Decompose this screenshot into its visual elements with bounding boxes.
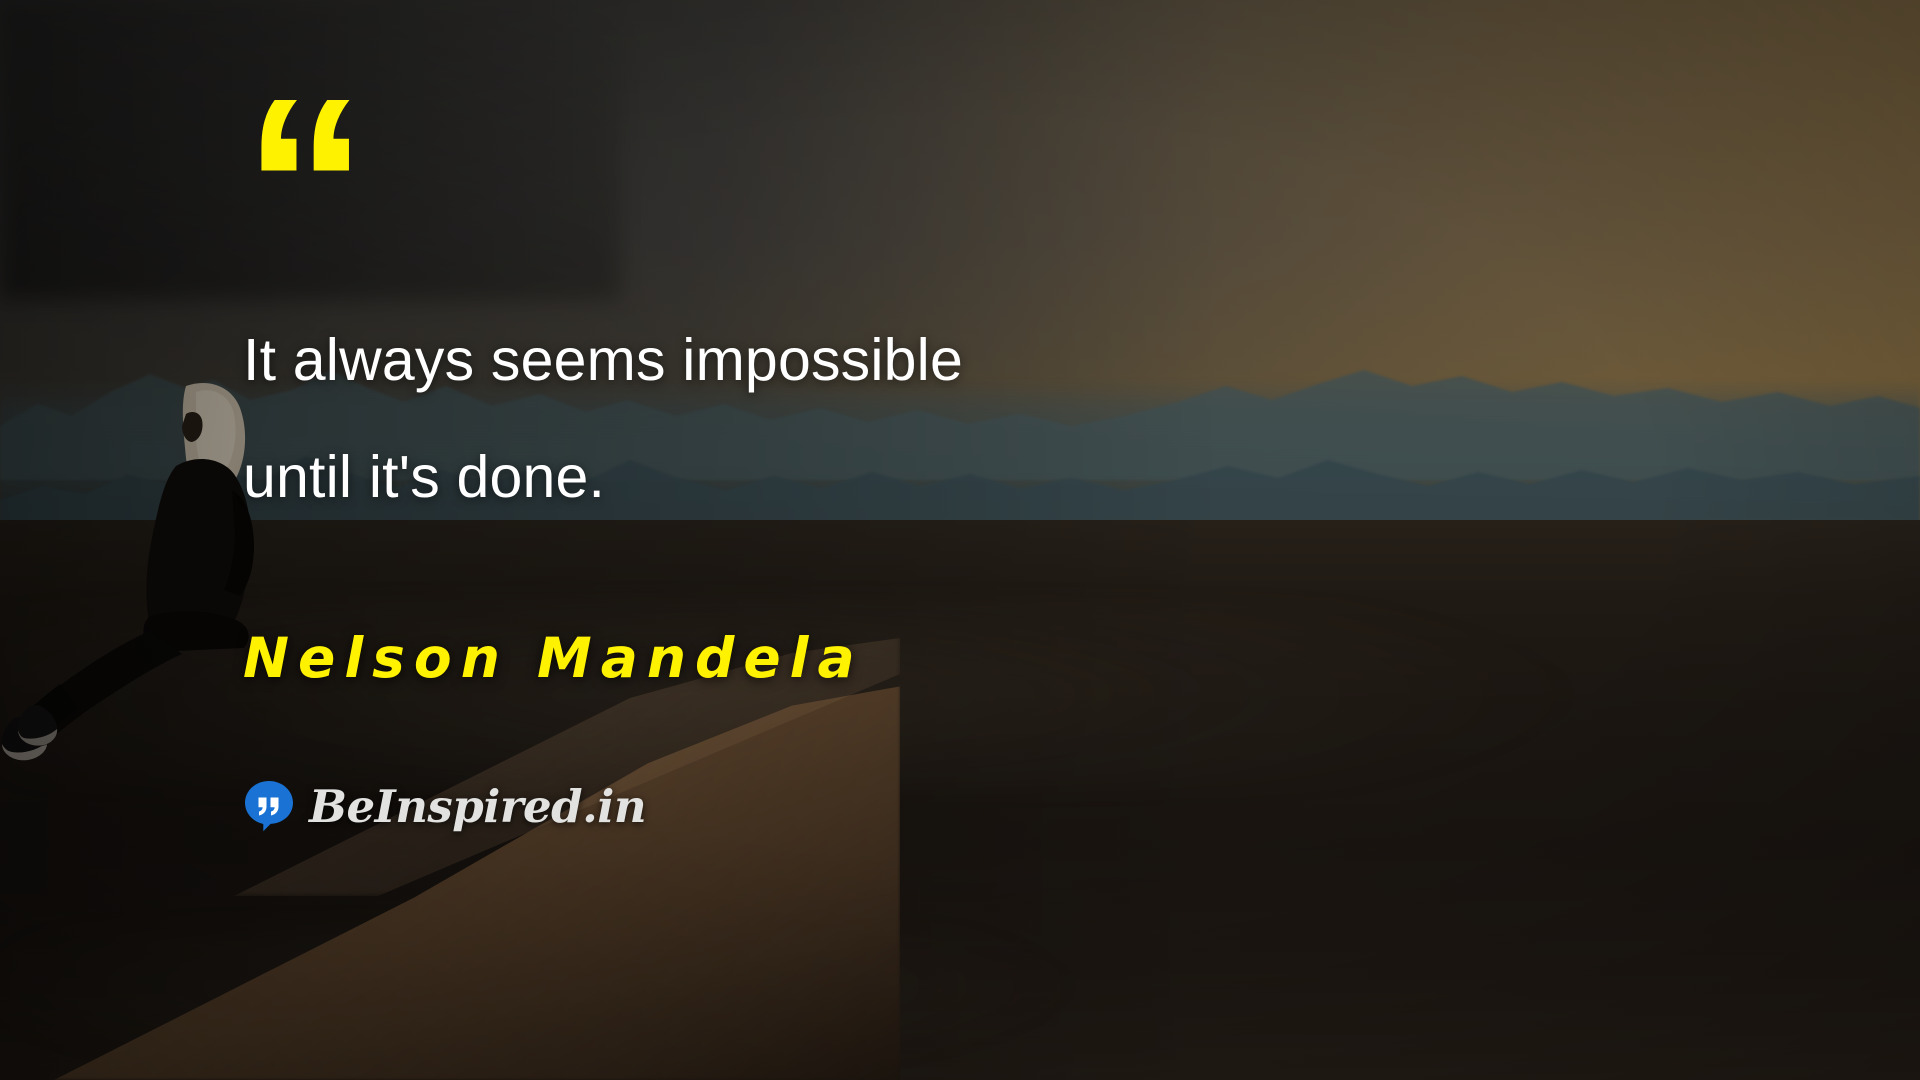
- quote-text: It always seems impossible until it's do…: [243, 302, 1363, 536]
- quote-line-2: until it's done.: [243, 419, 1363, 536]
- quote-bubble-icon: [243, 780, 295, 832]
- quote-line-1: It always seems impossible: [243, 302, 1363, 419]
- brand-name: BeInspired.in: [309, 780, 646, 833]
- opening-quote-icon: “: [243, 96, 1363, 246]
- quote-content: “ It always seems impossible until it's …: [243, 96, 1363, 833]
- brand-logo[interactable]: BeInspired.in: [243, 780, 1363, 833]
- quote-author: Nelson Mandela: [243, 626, 1363, 690]
- quote-card: “ It always seems impossible until it's …: [0, 0, 1920, 1080]
